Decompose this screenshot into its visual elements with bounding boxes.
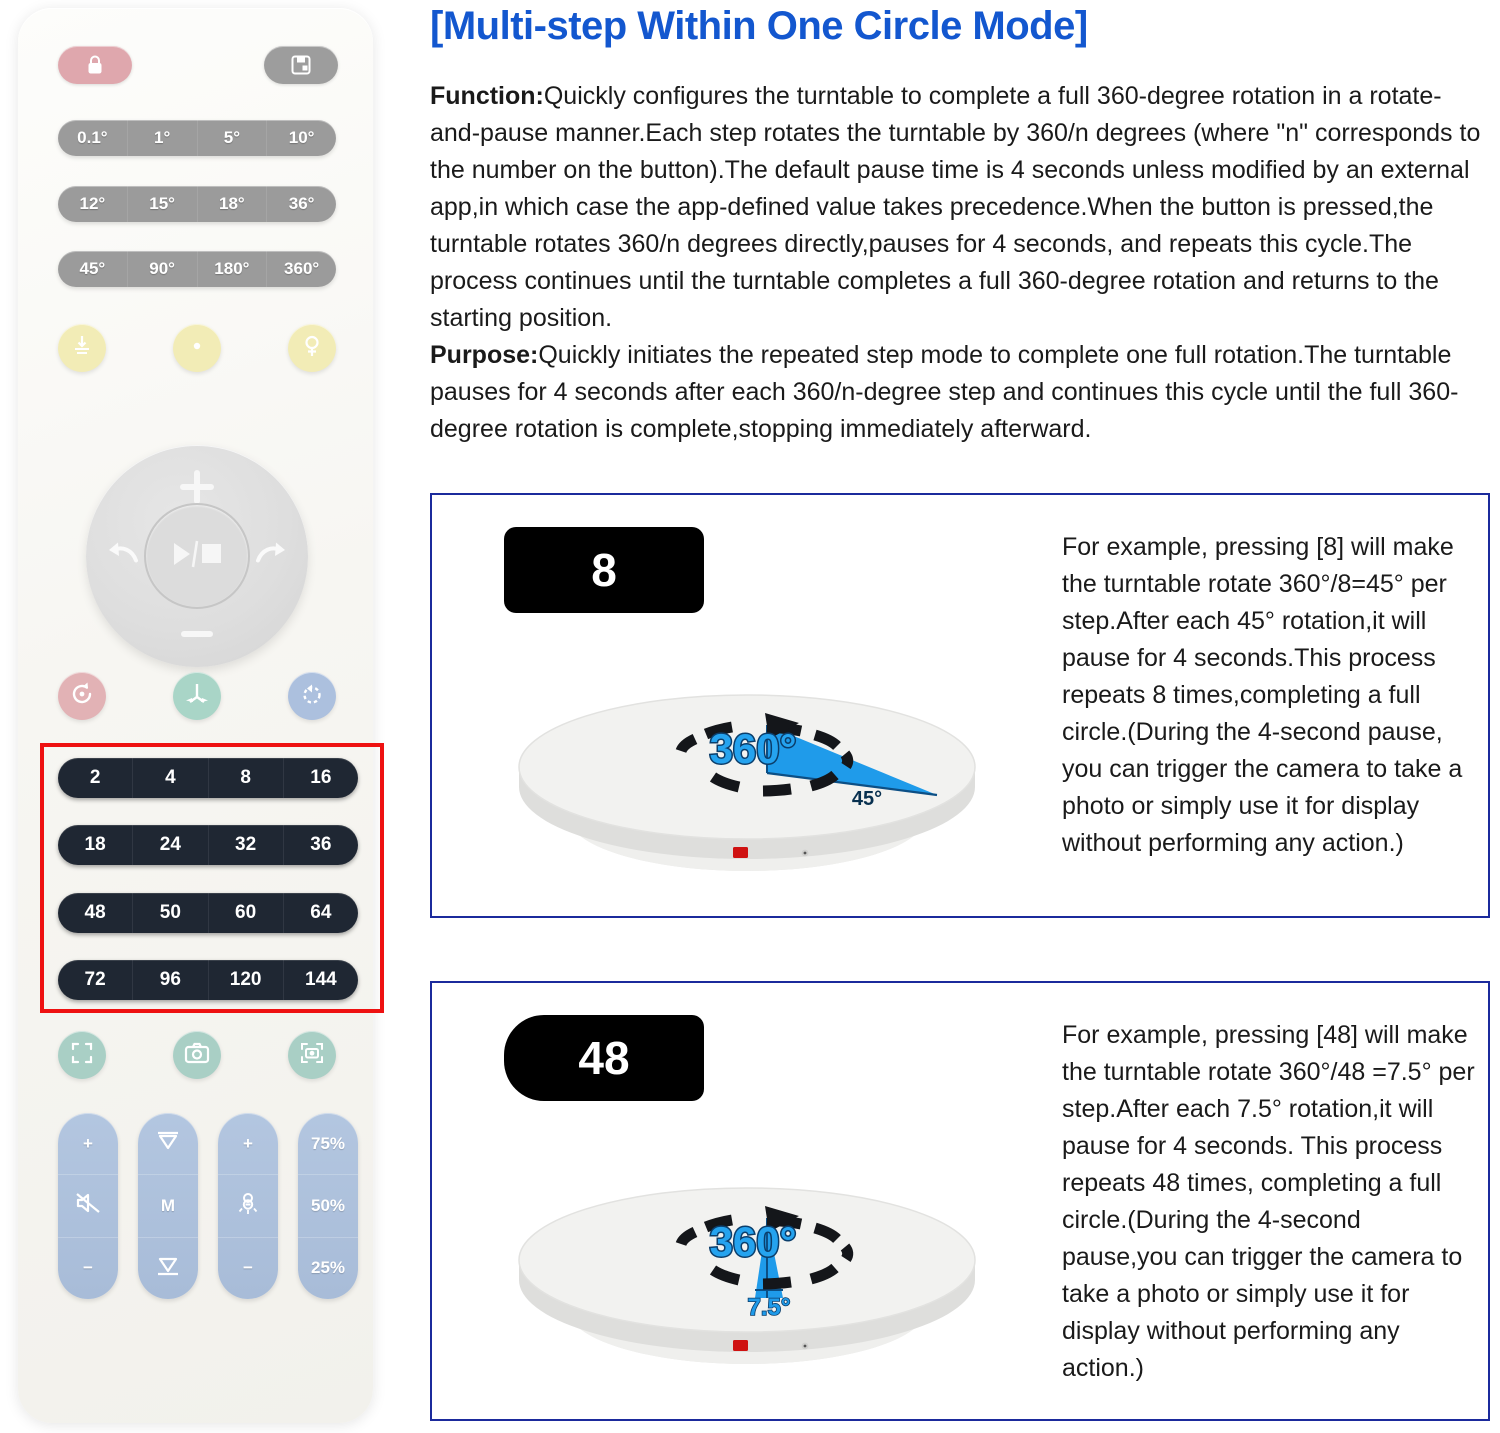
step-row-1: 2 4 8 16 xyxy=(58,758,358,798)
mode-column: M xyxy=(138,1113,198,1299)
volume-down-button[interactable]: − xyxy=(58,1238,118,1299)
light-bulb-icon xyxy=(301,334,323,363)
degree-button[interactable]: 15° xyxy=(128,186,198,222)
light-down-icon xyxy=(71,334,93,363)
step-button[interactable]: 2 xyxy=(58,758,133,798)
step-button[interactable]: 60 xyxy=(209,893,284,933)
degree-button[interactable]: 18° xyxy=(198,186,268,222)
degree-row-1: 0.1° 1° 5° 10° xyxy=(58,120,336,156)
function-text: Quickly configures the turntable to comp… xyxy=(430,82,1480,332)
degree-row-3: 45° 90° 180° 360° xyxy=(58,251,336,287)
step-button[interactable]: 72 xyxy=(58,960,133,1000)
degree-row-2: 12° 15° 18° 36° xyxy=(58,186,336,222)
step-button[interactable]: 50 xyxy=(133,893,208,933)
degree-button[interactable]: 0.1° xyxy=(58,120,128,156)
light-minus-icon xyxy=(235,1190,261,1221)
step-button[interactable]: 48 xyxy=(58,893,133,933)
mute-icon xyxy=(75,1192,101,1219)
degree-button[interactable]: 45° xyxy=(58,251,128,287)
reset-rotation-button[interactable] xyxy=(58,672,106,720)
bottom-align-icon xyxy=(155,1255,181,1282)
remote-control-panel: 0.1° 1° 5° 10° 12° 15° 18° 36° 45° 90° 1… xyxy=(0,0,410,1433)
step-button[interactable]: 24 xyxy=(133,825,208,865)
mute-button[interactable] xyxy=(58,1175,118,1237)
save-icon xyxy=(290,54,312,76)
play-stop-button[interactable] xyxy=(144,503,250,609)
light-up-button[interactable]: + xyxy=(218,1113,278,1175)
play-stop-icon xyxy=(166,538,228,575)
function-label: Function: xyxy=(430,82,544,110)
degree-button[interactable]: 12° xyxy=(58,186,128,222)
light-minus-button[interactable] xyxy=(218,1175,278,1237)
turntable-angle-label: 45° xyxy=(852,788,882,810)
example-description: For example, pressing [48] will make the… xyxy=(1062,1017,1482,1387)
step-button[interactable]: 8 xyxy=(209,758,284,798)
speed-50-button[interactable]: 50% xyxy=(298,1175,358,1237)
speed-25-button[interactable]: 25% xyxy=(298,1238,358,1299)
light-column: + − xyxy=(218,1113,278,1299)
intro-paragraphs: Function:Quickly configures the turntabl… xyxy=(430,78,1482,448)
camera-icon xyxy=(184,1042,210,1069)
step-button[interactable]: 4 xyxy=(133,758,208,798)
turntable-center-label: 360° xyxy=(710,1218,797,1265)
save-button[interactable] xyxy=(264,46,338,84)
focus-frame-icon xyxy=(70,1041,94,1070)
light-dot-icon xyxy=(189,338,205,359)
purpose-paragraph: Purpose:Quickly initiates the repeated s… xyxy=(430,337,1482,448)
top-align-button[interactable] xyxy=(138,1113,198,1175)
speed-75-button[interactable]: 75% xyxy=(298,1113,358,1175)
calibrate-icon xyxy=(184,681,210,712)
example-description: For example, pressing [8] will make the … xyxy=(1062,529,1482,862)
page-title: [Multi-step Within One Circle Mode] xyxy=(430,4,1490,49)
volume-column: + − xyxy=(58,1113,118,1299)
light-dot-button[interactable] xyxy=(173,324,221,372)
step-row-3: 48 50 60 64 xyxy=(58,893,358,933)
turntable-center-label: 360° xyxy=(710,725,797,772)
step-row-4: 72 96 120 144 xyxy=(58,960,358,1000)
camera-frame-button[interactable] xyxy=(288,1031,336,1079)
bottom-align-button[interactable] xyxy=(138,1238,198,1299)
step-button[interactable]: 36 xyxy=(284,825,358,865)
reset-rotation-icon xyxy=(69,681,95,712)
content-panel: [Multi-step Within One Circle Mode] Func… xyxy=(420,0,1500,1433)
lock-icon xyxy=(85,54,105,76)
step-button[interactable]: 96 xyxy=(133,960,208,1000)
volume-up-button[interactable]: + xyxy=(58,1113,118,1175)
example-badge: 48 xyxy=(504,1015,704,1101)
degree-button[interactable]: 1° xyxy=(128,120,198,156)
speed-column: 75% 50% 25% xyxy=(298,1113,358,1299)
continuous-rotation-button[interactable] xyxy=(288,672,336,720)
dpad-down-button[interactable] xyxy=(177,627,217,645)
camera-button[interactable] xyxy=(173,1031,221,1079)
function-paragraph: Function:Quickly configures the turntabl… xyxy=(430,78,1482,337)
lock-button[interactable] xyxy=(58,46,132,84)
step-button[interactable]: 16 xyxy=(284,758,358,798)
example-badge: 8 xyxy=(504,527,704,613)
step-button[interactable]: 18 xyxy=(58,825,133,865)
step-row-2: 18 24 32 36 xyxy=(58,825,358,865)
continuous-rotation-icon xyxy=(299,681,325,712)
focus-frame-button[interactable] xyxy=(58,1031,106,1079)
turntable-illustration-1: 360° 45° xyxy=(467,655,1027,895)
example-box-1: 8 xyxy=(430,493,1490,918)
purpose-label: Purpose: xyxy=(430,341,538,369)
top-align-icon xyxy=(155,1130,181,1157)
step-button[interactable]: 32 xyxy=(209,825,284,865)
degree-button[interactable]: 36° xyxy=(267,186,336,222)
bottom-control-columns: + − M xyxy=(58,1113,358,1299)
mode-button-row xyxy=(58,672,336,720)
light-down-button-2[interactable]: − xyxy=(218,1238,278,1299)
rotate-left-icon[interactable] xyxy=(106,541,140,572)
light-bulb-button[interactable] xyxy=(288,324,336,372)
turntable-angle-label: 7.5° xyxy=(748,1294,791,1321)
degree-button[interactable]: 360° xyxy=(267,251,336,287)
remote-top-button-row xyxy=(58,46,338,84)
step-button[interactable]: 144 xyxy=(284,960,358,1000)
turntable-illustration-2: 360° 7.5° xyxy=(467,1148,1027,1388)
camera-frame-icon xyxy=(299,1041,325,1070)
light-button-row xyxy=(58,324,336,372)
dpad[interactable] xyxy=(86,445,308,667)
purpose-text: Quickly initiates the repeated step mode… xyxy=(430,341,1458,443)
degree-button[interactable]: 180° xyxy=(198,251,268,287)
m-mode-button[interactable]: M xyxy=(138,1175,198,1237)
step-button[interactable]: 64 xyxy=(284,893,358,933)
camera-button-row xyxy=(58,1031,336,1079)
rotate-right-icon[interactable] xyxy=(254,541,288,572)
calibrate-button[interactable] xyxy=(173,672,221,720)
degree-button[interactable]: 5° xyxy=(198,120,268,156)
step-button[interactable]: 120 xyxy=(209,960,284,1000)
degree-button[interactable]: 10° xyxy=(267,120,336,156)
example-box-2: 48 xyxy=(430,981,1490,1421)
remote-body: 0.1° 1° 5° 10° 12° 15° 18° 36° 45° 90° 1… xyxy=(18,8,373,1423)
light-down-button[interactable] xyxy=(58,324,106,372)
degree-button[interactable]: 90° xyxy=(128,251,198,287)
